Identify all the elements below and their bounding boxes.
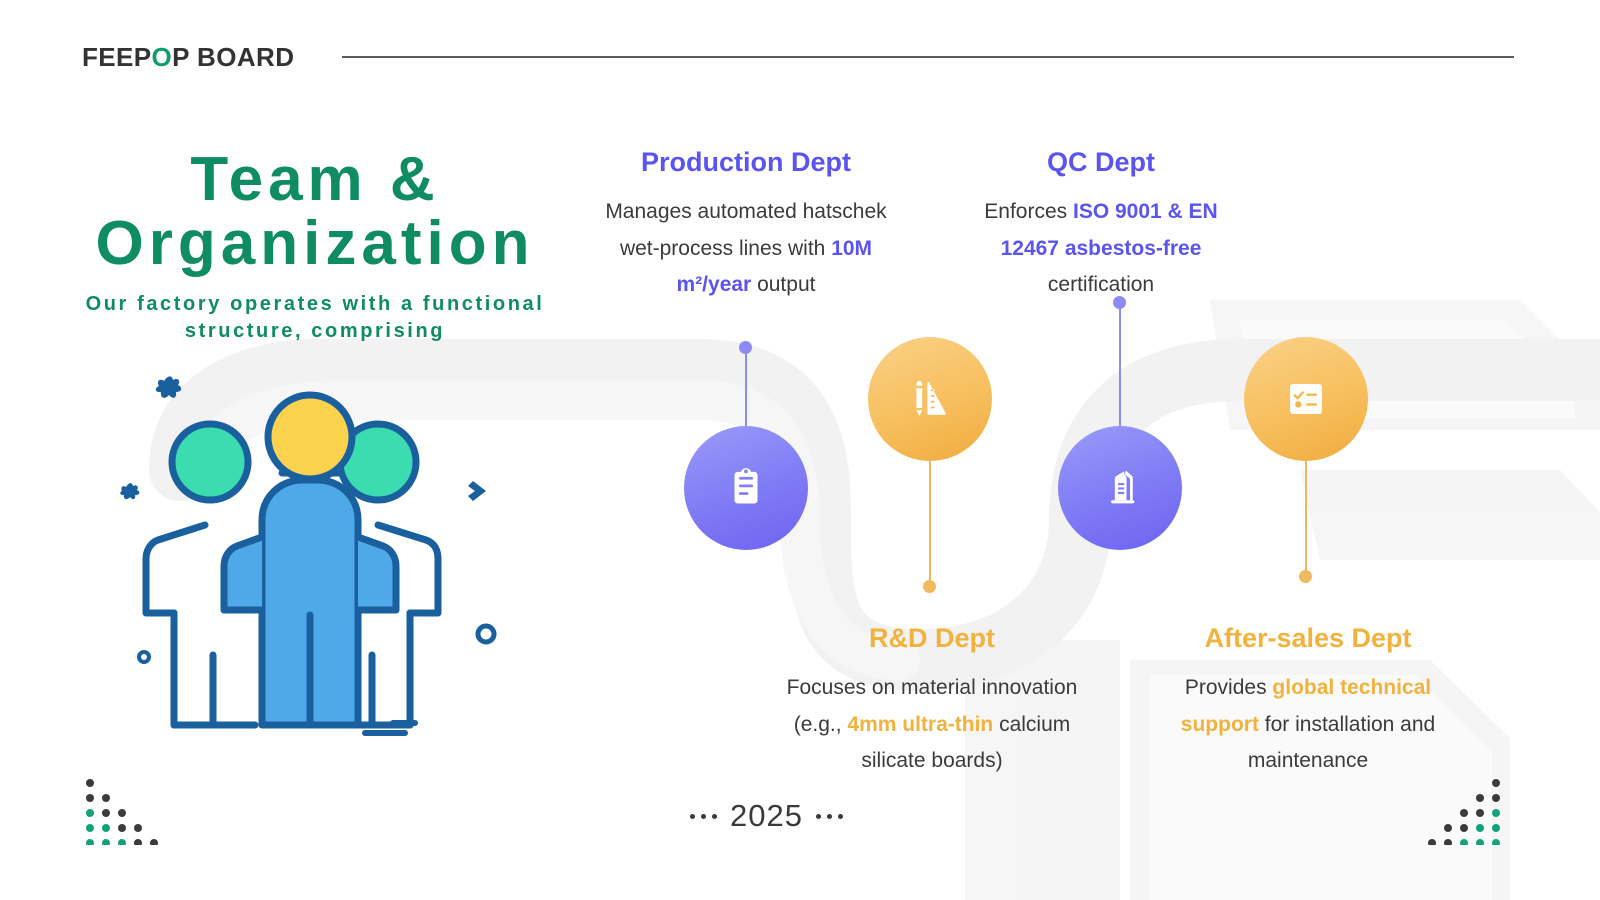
header-divider-line [342,56,1514,58]
headline-block: Team & Organization Our factory operates… [55,148,575,345]
dept-body-rnd: Focuses on material innovation (e.g., 4m… [786,670,1078,778]
dept-text-qc: QC Dept Enforces ISO 9001 & EN 12467 asb… [955,146,1247,303]
page-title-line-2: Organization [55,212,575,276]
node-production[interactable] [684,341,808,581]
dept-title-production: Production Dept [600,146,892,178]
page-header: FEEPOP BOARD [82,36,1522,78]
connector-line-after-sales [1305,457,1307,575]
node-after-sales[interactable] [1244,337,1368,592]
dept-body-part: certification [1048,273,1154,296]
dept-body-highlight: 4mm ultra-thin [847,713,993,736]
dept-text-production: Production Dept Manages automated hatsch… [600,146,892,303]
dept-body-part: Enforces [984,200,1073,223]
ruler-pencil-icon [907,376,953,422]
dept-body-qc: Enforces ISO 9001 & EN 12467 asbestos-fr… [955,194,1247,302]
dept-title-rnd: R&D Dept [786,622,1078,654]
node-qc[interactable] [1058,296,1182,581]
page-title-line-1: Team & [55,148,575,212]
clipboard-icon [723,465,769,511]
year-value: 2025 [730,798,803,834]
connector-line-qc [1119,304,1121,431]
dept-body-production: Manages automated hatschek wet-process l… [600,194,892,302]
page-subtitle: Our factory operates with a functional s… [55,291,575,345]
connector-dot-rnd [923,580,936,593]
icon-circle-qc[interactable] [1058,426,1182,550]
connector-dot-after-sales [1299,570,1312,583]
logo-accent-letter: O [152,42,173,72]
icon-circle-rnd[interactable] [868,337,992,461]
page-title: Team & Organization [55,148,575,277]
dept-title-after-sales: After-sales Dept [1162,622,1454,654]
brand-logo[interactable]: FEEPOP BOARD [82,42,294,73]
slide-canvas: FEEPOP BOARD Team & Organization Our fac… [0,0,1600,900]
dept-title-qc: QC Dept [955,146,1247,178]
connector-line-rnd [929,457,931,585]
icon-circle-production[interactable] [684,426,808,550]
dept-body-part: for installation and maintenance [1248,713,1435,772]
dot-grid-decoration-left [78,775,158,845]
year-dots-left [690,814,717,819]
icon-circle-after-sales[interactable] [1244,337,1368,461]
dept-body-part: Provides [1185,676,1273,699]
dot-grid-decoration-right [1428,775,1508,845]
team-people-illustration [110,365,510,755]
dept-text-after-sales: After-sales Dept Provides global technic… [1162,622,1454,779]
year-dots-right [816,814,843,819]
logo-prefix: FEEP [82,42,152,72]
logo-suffix: P BOARD [172,42,294,72]
dept-body-part: output [751,273,815,296]
dept-body-after-sales: Provides global technical support for in… [1162,670,1454,778]
connector-line-production [745,349,747,431]
year-label: 2025 [690,798,843,834]
dept-text-rnd: R&D Dept Focuses on material innovation … [786,622,1078,779]
quality-inspection-icon [1097,465,1143,511]
node-rnd[interactable] [868,337,992,599]
checklist-icon [1283,376,1329,422]
